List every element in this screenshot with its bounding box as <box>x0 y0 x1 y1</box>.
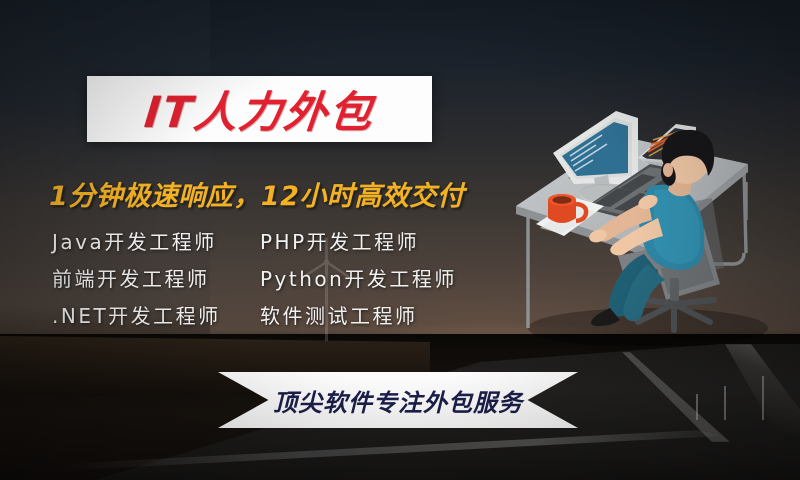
ribbon-text: 顶尖软件专注外包服务 <box>218 372 578 428</box>
role-item: .NET开发工程师 <box>52 300 260 329</box>
role-row: Java开发工程师 PHP开发工程师 <box>52 222 512 259</box>
role-item: Java开发工程师 <box>52 226 260 255</box>
role-item: 前端开发工程师 <box>52 263 260 292</box>
page-title: IT人力外包 <box>142 78 378 140</box>
title-plate: IT人力外包 <box>87 76 432 142</box>
role-row: .NET开发工程师 软件测试工程师 <box>52 296 512 333</box>
role-item: Python开发工程师 <box>260 263 510 292</box>
role-row: 前端开发工程师 Python开发工程师 <box>52 259 512 296</box>
ribbon-banner: 顶尖软件专注外包服务 <box>218 372 578 428</box>
role-item: PHP开发工程师 <box>260 226 510 255</box>
subtitle-text: 1分钟极速响应，12小时高效交付 <box>49 174 519 213</box>
developer-at-desk-illustration <box>498 78 800 346</box>
promo-banner: IT人力外包 1分钟极速响应，12小时高效交付 Java开发工程师 PHP开发工… <box>0 0 800 480</box>
roles-list: Java开发工程师 PHP开发工程师 前端开发工程师 Python开发工程师 .… <box>52 222 512 333</box>
role-item: 软件测试工程师 <box>260 300 510 329</box>
